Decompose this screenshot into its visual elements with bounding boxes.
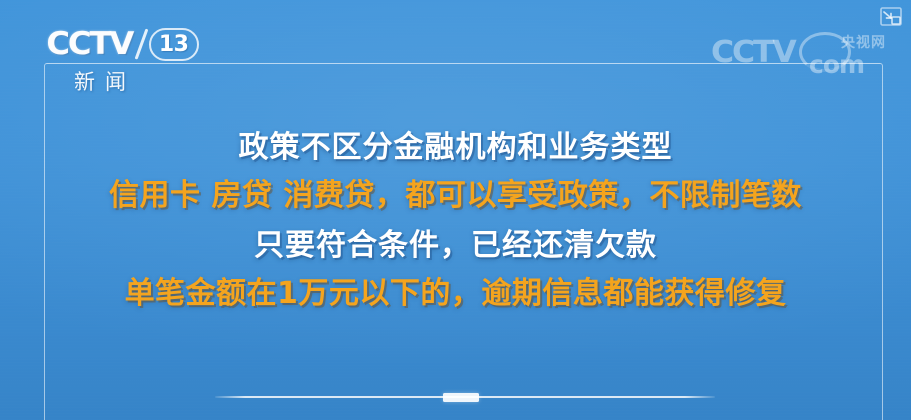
caption-line-1: 政策不区分金融机构和业务类型: [0, 133, 911, 163]
bottom-progress-track[interactable]: [215, 396, 715, 398]
picture-in-picture-icon[interactable]: [879, 6, 903, 28]
cctv-channel-logo: CCTV 13: [48, 26, 199, 62]
broadcast-screen: CCTV 13 新闻 CCTV com 央视网 政策不区分金融机构和业务类型 信…: [0, 0, 911, 420]
caption-line-3: 只要符合条件，已经还清欠款: [0, 231, 911, 261]
caption-block: 政策不区分金融机构和业务类型 信用卡 房贷 消费贷，都可以享受政策，不限制笔数 …: [0, 133, 911, 309]
pip-icon-svg: [879, 6, 903, 28]
channel-name-label: 新闻: [74, 66, 136, 96]
bottom-progress-marker[interactable]: [443, 393, 479, 402]
channel-number-badge: 13: [149, 28, 199, 61]
cctv-wordmark: CCTV: [46, 29, 132, 60]
caption-line-2: 信用卡 房贷 消费贷，都可以享受政策，不限制笔数: [0, 181, 911, 211]
caption-line-4: 单笔金额在1万元以下的，逾期信息都能获得修复: [0, 279, 911, 309]
logo-slash-icon: [133, 27, 149, 61]
